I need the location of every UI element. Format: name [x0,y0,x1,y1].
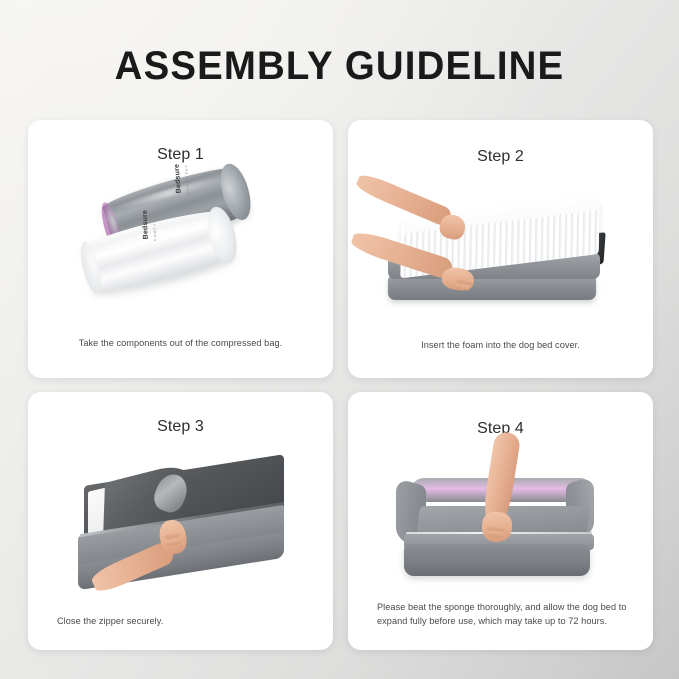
bed-base [404,544,590,576]
step-1-caption: Take the components out of the compresse… [46,336,315,350]
step-3-caption: Close the zipper securely. [57,614,315,628]
step-card-2: Step 2 Insert the foam into the dog bed … [348,120,653,378]
step-card-3: Step 3 Close the zipper securely. [28,392,333,650]
step-4-image [348,440,653,600]
roll-highlight [114,174,224,212]
step-1-title: Step 1 [28,145,333,165]
step-2-caption: Insert the foam into the dog bed cover. [366,338,635,352]
finger [487,531,503,537]
finger [455,284,471,291]
step-4-caption: Please beat the sponge thoroughly, and a… [377,600,627,628]
brand-label: Bedsure [174,164,183,194]
finger [165,539,182,547]
step-2-title: Step 2 [348,147,653,167]
brand-label: Bedsure [142,210,150,240]
step-3-title: Step 3 [28,417,333,437]
page-title: ASSEMBLY GUIDELINE [14,40,666,92]
step-2-image [348,168,653,328]
step-1-image: Bedsure COMFY PET Bedsure COMFY PET [28,172,333,332]
brand-sublabel: COMFY PET [184,164,190,195]
step-card-1: Step 1 Bedsure COMFY PET Bedsure COMFY P… [28,120,333,378]
assembly-guideline-page: ASSEMBLY GUIDELINE Step 1 Bedsure COMFY … [0,0,679,679]
step-card-4: Step 4 Please beat the sponge thoroughly… [348,392,653,650]
step-3-image [28,444,333,604]
